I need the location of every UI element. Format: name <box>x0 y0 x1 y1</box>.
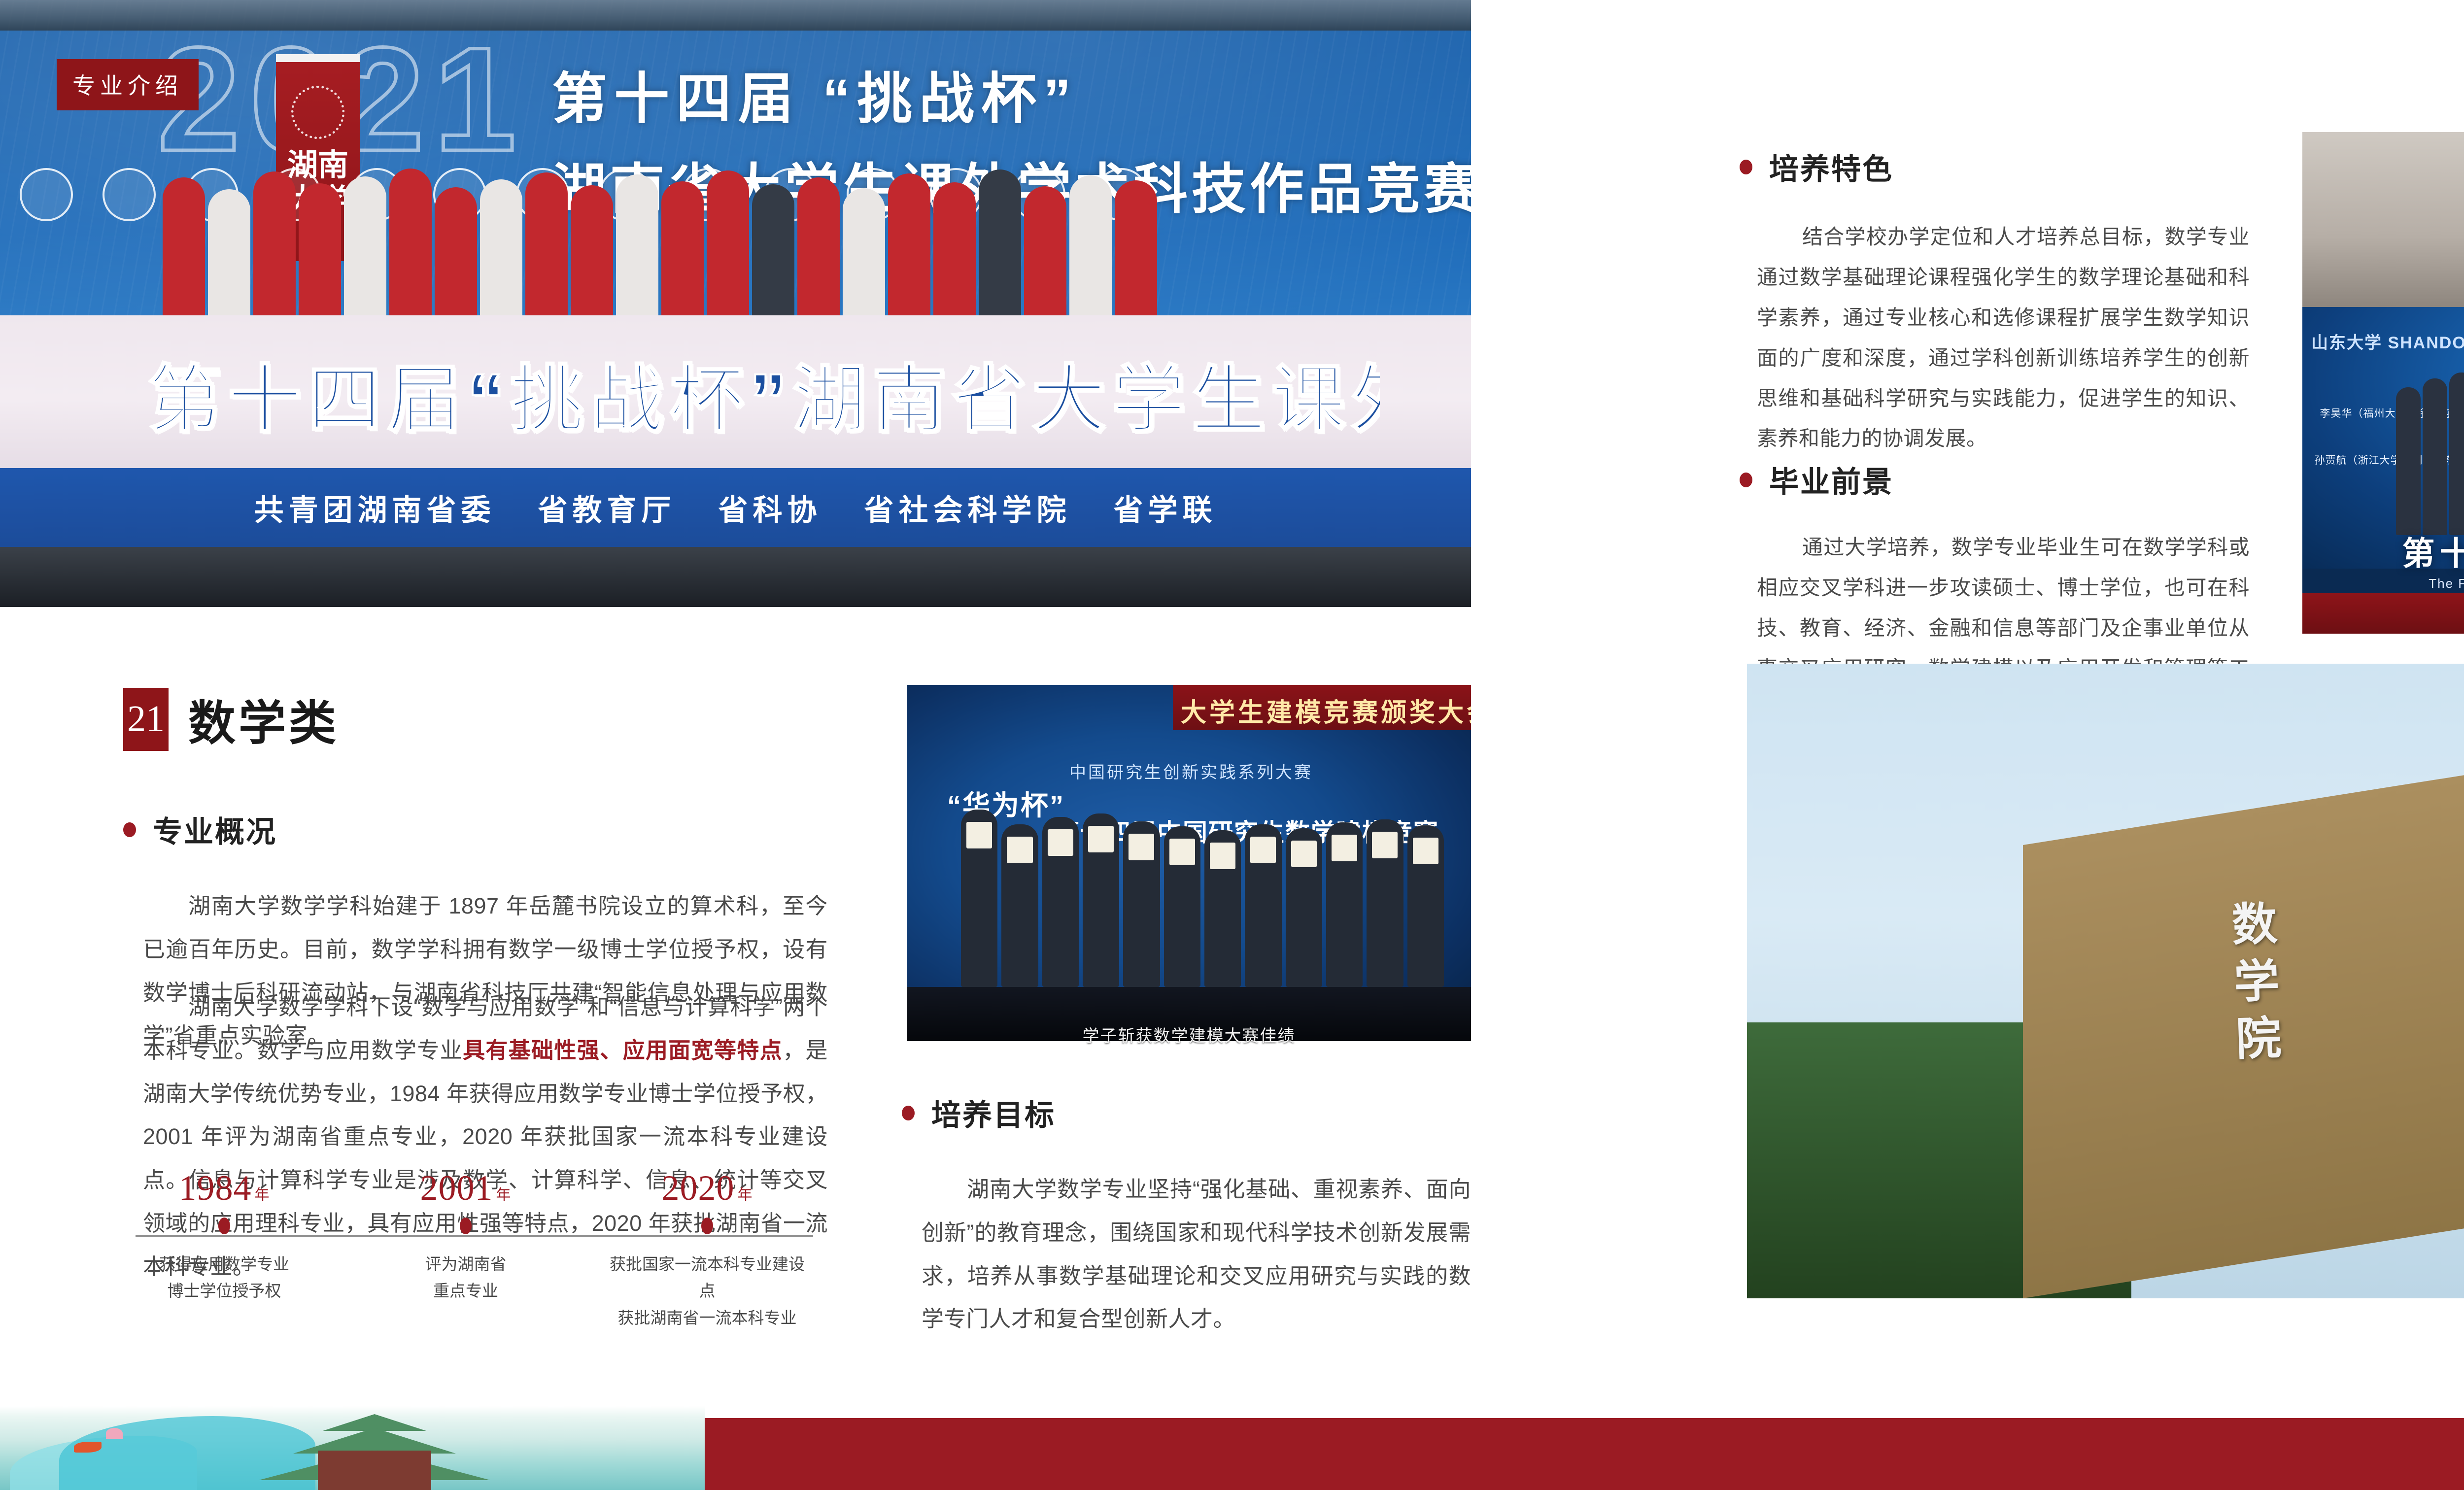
banner-floor <box>0 547 1471 607</box>
person-figure <box>1326 822 1363 987</box>
red-carpet <box>2302 593 2464 634</box>
banner-plaque-title: 第十四届“挑战杯”湖南省大学生课外学术科技作品竞赛 <box>148 340 1380 447</box>
person-figure <box>979 169 1021 325</box>
goal-heading: 培养目标 <box>902 1091 1056 1134</box>
person-figure <box>208 189 250 325</box>
person-figure <box>1286 828 1322 987</box>
certificate-icon <box>1332 835 1357 861</box>
person-figure <box>389 169 432 325</box>
modeling-contest-caption: 学子斩获数学建模大赛佳绩 <box>907 1022 1471 1047</box>
sponsor-item: 共青团湖南省委 <box>254 486 496 529</box>
person-figure <box>571 185 613 325</box>
person-figure <box>616 174 658 325</box>
timeline-desc: 获批国家一流本科专业建设点 获批湖南省一流本科专业 <box>604 1251 811 1331</box>
certificate-icon <box>1129 834 1154 860</box>
math-competition-photo: 山东大学 SHANDONG UNIVERSITY 数学类高年级组 一等奖 李昊华… <box>2302 132 2464 634</box>
person-figure <box>344 176 386 325</box>
page-title: 数学类 <box>188 685 339 753</box>
person-figure <box>2396 387 2421 535</box>
timeline-year-unit: 年 <box>496 1187 512 1203</box>
overview-label: 专业概况 <box>153 808 277 851</box>
modeling-contest-photo: 大学生建模竞赛颁奖大会 中国研究生创新实践系列大赛 “华为杯” 第十四届中国研究… <box>907 685 1471 1041</box>
person-figure <box>2423 378 2447 535</box>
feature-heading: 培养特色 <box>1740 145 1893 188</box>
certificate-icon <box>1048 829 1073 856</box>
timeline-year: 1984年 <box>121 1168 328 1209</box>
timeline-item: 1984年 获得应用数学专业 博士学位授予权 <box>121 1168 328 1305</box>
feature-paragraph: 结合学校办学定位和人才培养总目标，数学专业通过数学基础理论课程强化学生的数学理论… <box>1757 217 2250 459</box>
timeline-item: 2020年 获批国家一流本科专业建设点 获批湖南省一流本科专业 <box>604 1168 811 1331</box>
timeline-year-value: 2001 <box>420 1168 493 1208</box>
certificate-icon <box>1250 837 1276 863</box>
person-figure <box>480 179 522 325</box>
sponsor-item: 省教育厅 <box>538 486 676 529</box>
person-figure <box>707 170 749 325</box>
person-figure <box>661 181 704 325</box>
timeline-year-unit: 年 <box>255 1187 270 1203</box>
person-figure <box>299 183 341 325</box>
timeline-desc: 获得应用数学专业 博士学位授予权 <box>121 1251 328 1305</box>
red-banner-text: 大学生建模竞赛颁奖大会 <box>1173 685 1471 729</box>
certificate-icon <box>1372 832 1398 858</box>
auditorium-ceiling <box>2302 132 2464 307</box>
banner-crowd <box>163 148 1198 325</box>
person-figure <box>1069 175 1112 325</box>
sponsor-item: 省科协 <box>719 486 822 529</box>
yuelu-academy-illustration <box>0 1406 705 1490</box>
section-number-badge: 21 <box>123 688 169 751</box>
timeline-year: 2001年 <box>362 1168 569 1209</box>
person-figure <box>1245 824 1281 987</box>
timeline-year-value: 2020 <box>662 1168 735 1208</box>
brochure-page: 2021 第十四届 “挑战杯” 湖南省大学生课外学术科技作品竞赛 湖南大学 <box>0 0 2464 1490</box>
person-figure <box>525 172 568 325</box>
bullet-dot-icon <box>123 822 136 837</box>
bullet-dot-icon <box>902 1106 915 1120</box>
university-emblem-icon <box>20 168 73 221</box>
banner-sponsor-bar: 共青团湖南省委 省教育厅 省科协 省社会科学院 省学联 <box>0 468 1471 547</box>
person-figure <box>1407 825 1444 987</box>
competition-banner-subtitle: The Final of the 15th Chinese Mathematic… <box>2302 576 2464 591</box>
person-figure <box>1164 826 1200 987</box>
certificate-icon <box>966 822 992 848</box>
person-figure <box>797 177 840 325</box>
banner-headline-line1: 第十四届 “挑战杯” <box>552 54 1439 134</box>
building-sign-text: 数学院 <box>2217 899 2289 1073</box>
person-figure <box>1024 186 1066 325</box>
goal-label: 培养目标 <box>931 1091 1056 1134</box>
pavilion-body <box>318 1451 431 1490</box>
competition-banner-title: 第十五届全国大学生数学竞赛决赛 <box>2302 527 2464 575</box>
red-overhead-banner: 大学生建模竞赛颁奖大会 <box>1173 685 1471 730</box>
competition-banner-photo: 2021 第十四届 “挑战杯” 湖南省大学生课外学术科技作品竞赛 湖南大学 <box>0 0 1471 607</box>
timeline-dot-icon <box>218 1218 230 1234</box>
person-figure <box>843 188 885 325</box>
flag-seal-icon <box>291 86 344 139</box>
certificate-icon <box>1088 826 1114 852</box>
certificate-icon <box>1007 837 1032 863</box>
certificate-icon <box>1169 839 1195 865</box>
sponsor-item: 省学联 <box>1114 486 1217 529</box>
person-figure <box>1001 824 1038 987</box>
person-figure <box>1123 821 1160 987</box>
timeline-dot-icon <box>460 1218 472 1234</box>
person-figure <box>1042 817 1079 987</box>
bullet-dot-icon <box>1740 473 1752 487</box>
milestone-timeline: 1984年 获得应用数学专业 博士学位授予权 2001年 评为湖南省 重点专业 … <box>116 1168 830 1306</box>
lotus-icon <box>106 1428 123 1439</box>
timeline-dot-icon <box>701 1218 713 1234</box>
pavilion-illustration <box>237 1407 513 1490</box>
future-heading: 毕业前景 <box>1740 458 1893 501</box>
person-figure <box>752 184 794 325</box>
person-figure <box>1367 819 1403 987</box>
person-figure <box>1083 813 1119 987</box>
winners-row <box>2396 372 2464 535</box>
footer-decoration <box>0 1394 2464 1490</box>
person-figure <box>1115 180 1157 325</box>
section-heading: 21 数学类 <box>123 685 339 753</box>
timeline-year-unit: 年 <box>738 1187 753 1203</box>
koi-fish-icon <box>74 1442 102 1453</box>
goal-paragraph: 湖南大学数学专业坚持“强化基础、重视素养、面向创新”的教育理念，围绕国家和现代科… <box>922 1168 1471 1341</box>
certificate-icon <box>1291 841 1317 867</box>
timeline-year: 2020年 <box>604 1168 811 1209</box>
screen-line-1: 中国研究生创新实践系列大赛 <box>1069 759 1313 783</box>
section-kicker-chip: 专业介绍 <box>57 59 199 110</box>
math-building-photo: 数学院 <box>1747 664 2464 1298</box>
bullet-dot-icon <box>1740 160 1752 174</box>
overview-heading: 专业概况 <box>123 808 277 851</box>
person-figure <box>933 182 976 325</box>
award-category-title: 数学类高年级组 一等奖 <box>2302 332 2464 363</box>
person-figure <box>1204 830 1241 987</box>
person-figure <box>435 187 477 325</box>
sponsor-item: 省社会科学院 <box>864 486 1071 529</box>
future-label: 毕业前景 <box>1769 458 1893 501</box>
feature-label: 培养特色 <box>1769 145 1893 188</box>
certificate-icon <box>1413 838 1438 864</box>
person-figure <box>2449 372 2464 535</box>
person-figure <box>253 171 296 325</box>
person-figure <box>163 177 205 325</box>
person-figure <box>961 810 997 987</box>
timeline-desc: 评为湖南省 重点专业 <box>362 1251 569 1305</box>
person-figure <box>888 173 930 325</box>
certificate-icon <box>1210 843 1235 869</box>
timeline-year-value: 1984 <box>179 1168 252 1208</box>
award-recipients-row <box>961 790 1444 987</box>
overview-p2-emphasis: 具有基础性强、应用面宽等特点 <box>463 1038 783 1063</box>
university-emblem-icon <box>103 168 156 221</box>
timeline-item: 2001年 评为湖南省 重点专业 <box>362 1168 569 1305</box>
